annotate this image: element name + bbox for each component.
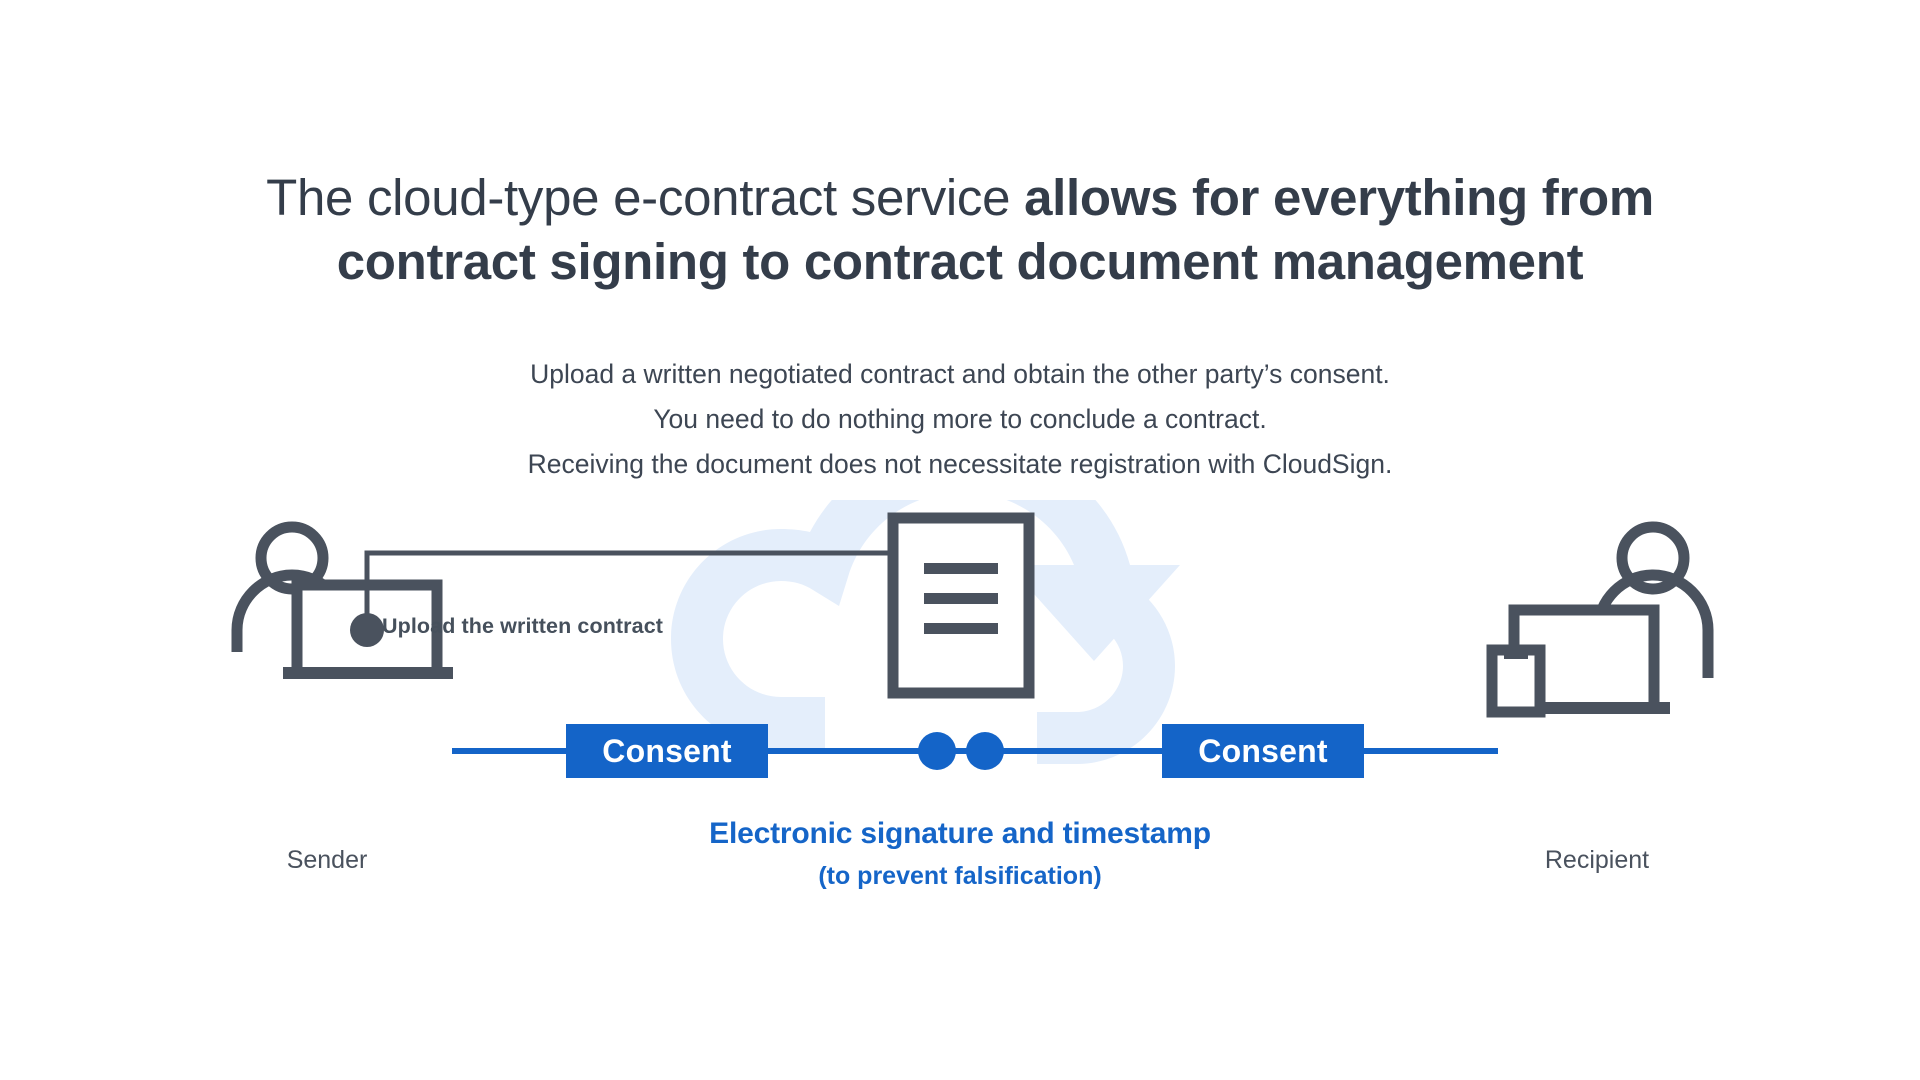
smartphone-icon	[1492, 650, 1540, 712]
consent-right-label: Consent	[1198, 733, 1327, 770]
upload-label: Upload the written contract	[382, 614, 663, 639]
page-title: The cloud-type e-contract service allows…	[0, 166, 1920, 294]
document-text-line	[924, 623, 998, 634]
document-text-line	[924, 563, 998, 574]
consent-left-label: Consent	[602, 733, 731, 770]
consent-button-left[interactable]: Consent	[566, 724, 768, 778]
subtitle-line-3: Receiving the document does not necessit…	[0, 442, 1920, 487]
document-body	[893, 518, 1029, 693]
seal-dot-icon	[918, 732, 956, 770]
headline-regular-text: The cloud-type e-contract service	[266, 169, 1024, 226]
slide-root: The cloud-type e-contract service allows…	[0, 0, 1920, 1080]
recipient-label: Recipient	[1502, 846, 1692, 875]
upload-dot-icon	[350, 613, 384, 647]
subtitle-line-2: You need to do nothing more to conclude …	[0, 397, 1920, 442]
phone-speaker	[1504, 650, 1528, 659]
document-icon	[893, 518, 1029, 693]
headline-line-2: contract signing to contract document ma…	[0, 230, 1920, 294]
flow-diagram: Upload the written contract Consent Cons…	[0, 500, 1920, 920]
laptop-base	[283, 667, 453, 679]
subtitle: Upload a written negotiated contract and…	[0, 352, 1920, 487]
consent-button-right[interactable]: Consent	[1162, 724, 1364, 778]
sender-label: Sender	[232, 846, 422, 875]
phone-body	[1492, 650, 1540, 712]
headline-line-1: The cloud-type e-contract service allows…	[0, 166, 1920, 230]
subtitle-line-1: Upload a written negotiated contract and…	[0, 352, 1920, 397]
document-text-line	[924, 593, 998, 604]
seal-dot-icon	[966, 732, 1004, 770]
headline-bold-text: allows for everything from	[1024, 169, 1654, 226]
